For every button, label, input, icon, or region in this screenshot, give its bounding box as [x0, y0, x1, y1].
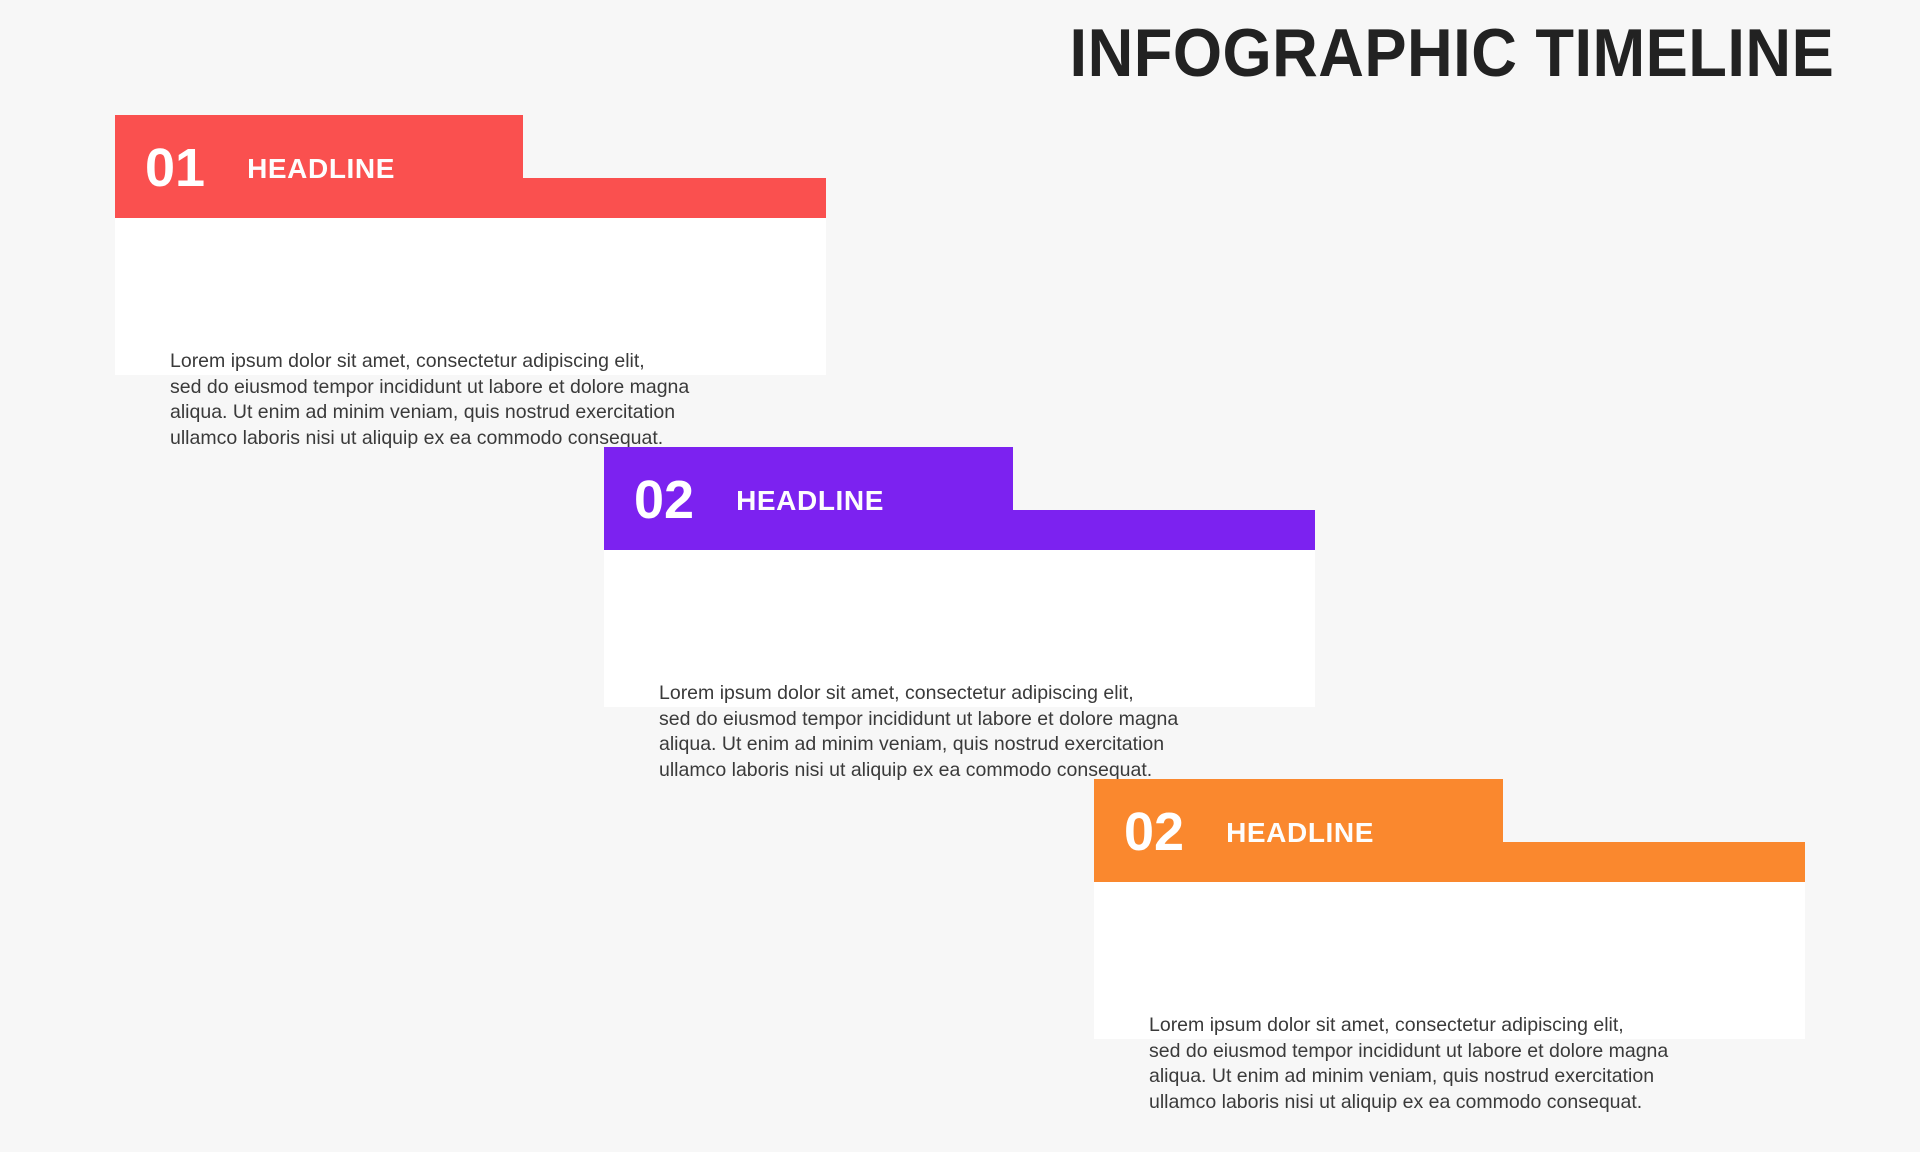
step-1-connector-bar [523, 178, 826, 218]
step-2-headline: HEADLINE [736, 487, 884, 515]
step-1-number: 01 [145, 141, 205, 195]
step-1-headline: HEADLINE [247, 155, 395, 183]
step-2-content-panel: Lorem ipsum dolor sit amet, consectetur … [604, 550, 1315, 707]
step-3-headline: HEADLINE [1226, 819, 1374, 847]
step-3-header[interactable]: 02 HEADLINE [1094, 779, 1503, 882]
step-3-body-text: Lorem ipsum dolor sit amet, consectetur … [1149, 1013, 1769, 1115]
step-2-connector-bar [1013, 510, 1315, 550]
step-1-content-panel: Lorem ipsum dolor sit amet, consectetur … [115, 218, 826, 375]
step-2-header[interactable]: 02 HEADLINE [604, 447, 1013, 550]
step-3-connector-bar [1503, 842, 1805, 882]
step-1-body-text: Lorem ipsum dolor sit amet, consectetur … [170, 349, 790, 451]
step-2-number: 02 [634, 473, 694, 527]
step-1-header[interactable]: 01 HEADLINE [115, 115, 523, 218]
step-2-body-text: Lorem ipsum dolor sit amet, consectetur … [659, 681, 1279, 783]
timeline-step-2[interactable]: Lorem ipsum dolor sit amet, consectetur … [604, 447, 1315, 707]
infographic-canvas: INFOGRAPHIC TIMELINE Lorem ipsum dolor s… [0, 0, 1920, 1152]
timeline-step-1[interactable]: Lorem ipsum dolor sit amet, consectetur … [115, 115, 826, 375]
timeline-step-3[interactable]: Lorem ipsum dolor sit amet, consectetur … [1094, 779, 1805, 1039]
step-3-number: 02 [1124, 805, 1184, 859]
page-title: INFOGRAPHIC TIMELINE [1069, 18, 1834, 89]
step-3-content-panel: Lorem ipsum dolor sit amet, consectetur … [1094, 882, 1805, 1039]
